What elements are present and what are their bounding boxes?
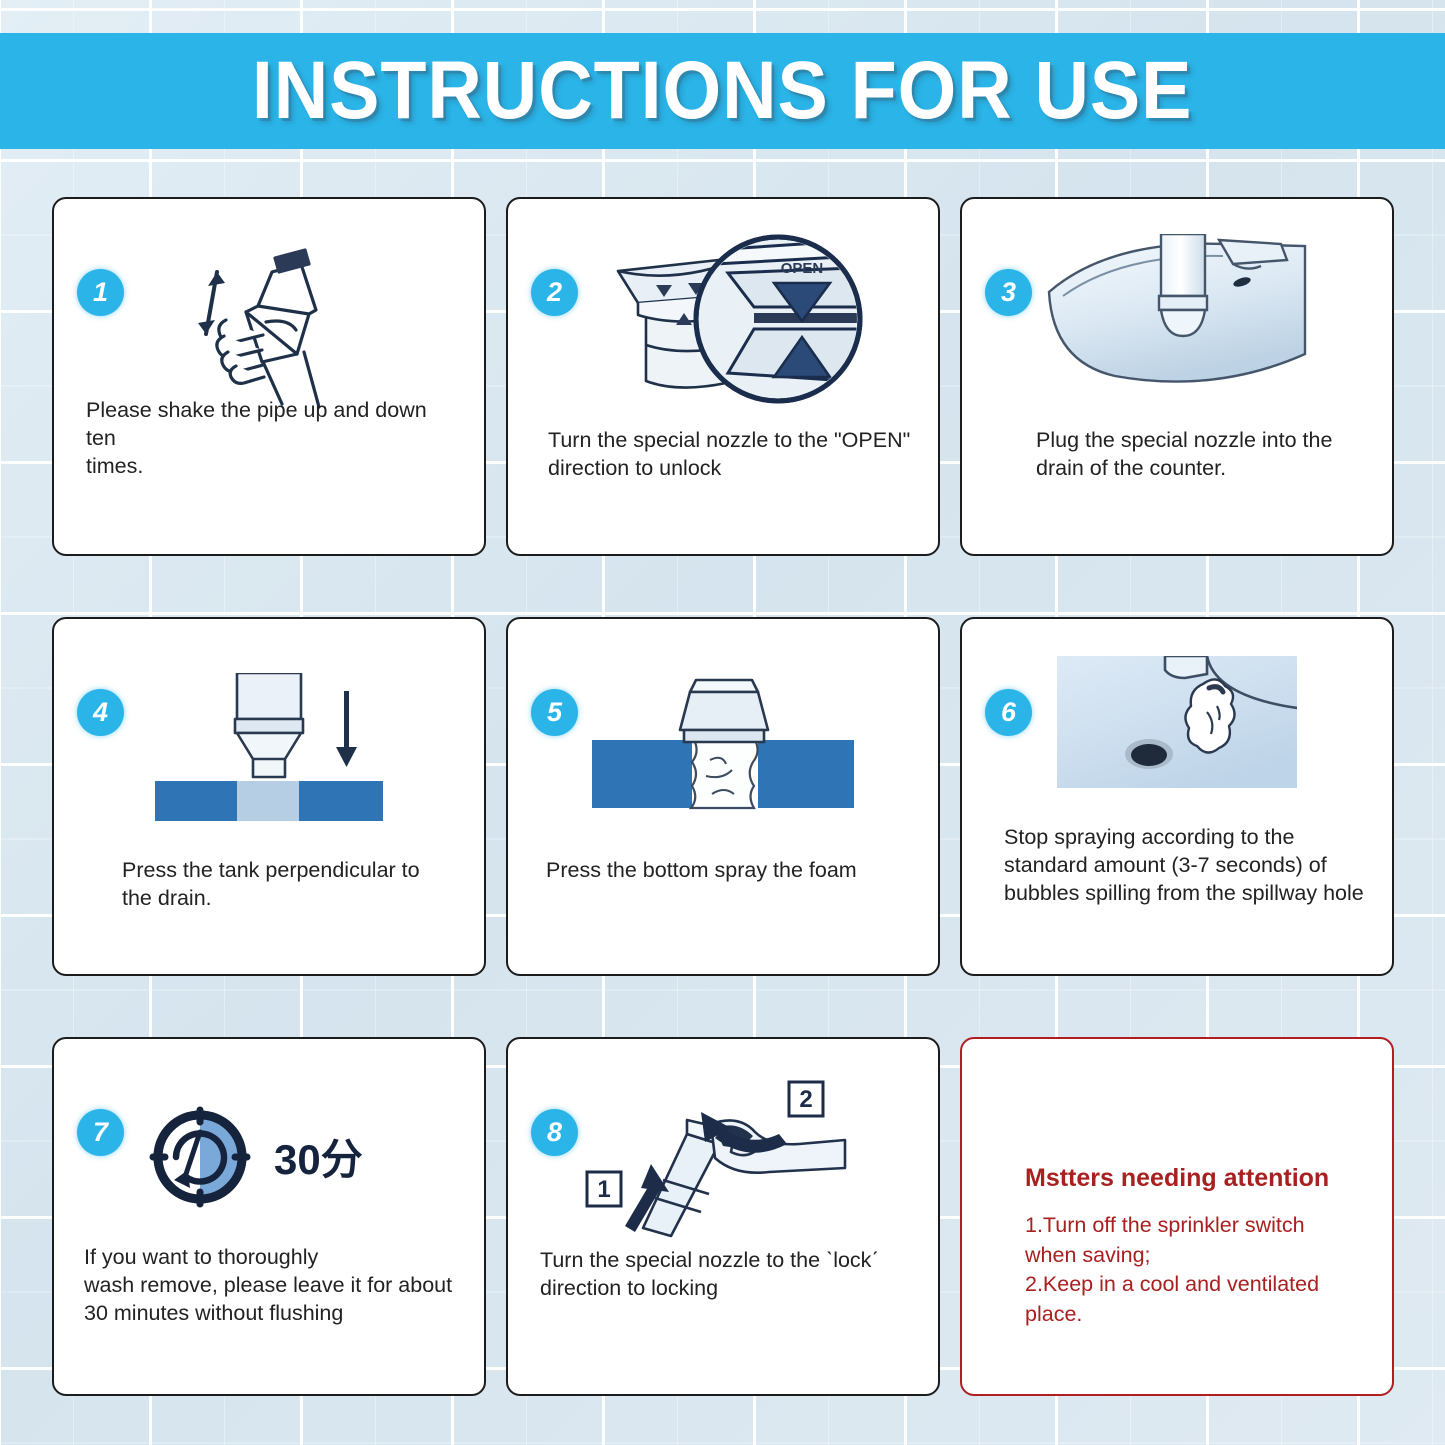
foam-spray-drain-icon xyxy=(508,661,938,836)
timer-label: 30分 xyxy=(274,1136,363,1183)
step-caption-7: If you want to thoroughly wash remove, p… xyxy=(54,1244,484,1328)
step-card-4: 4 Press the tank xyxy=(52,617,486,976)
warning-card: Mstters needing attention 1.Turn off the… xyxy=(960,1037,1394,1396)
svg-text:2: 2 xyxy=(799,1086,812,1113)
timer-30-minutes-icon: 30分 xyxy=(54,1097,484,1217)
step-caption-3: Plug the special nozzle into the drain o… xyxy=(962,427,1392,483)
press-tank-down-icon xyxy=(54,661,484,836)
step-card-6: 6 S xyxy=(960,617,1394,976)
step-caption-4: Press the tank perpendicular to the drai… xyxy=(54,857,484,913)
step-caption-5: Press the bottom spray the foam xyxy=(508,857,938,885)
step-card-3: 3 xyxy=(960,197,1394,556)
step-card-1: 1 xyxy=(52,197,486,556)
step-card-5: 5 Press the bottom spray the foam xyxy=(506,617,940,976)
instruction-step-grid: 1 xyxy=(52,197,1393,1396)
header-banner: INSTRUCTIONS FOR USE xyxy=(0,33,1445,149)
step-caption-2: Turn the special nozzle to the "OPEN" di… xyxy=(508,427,938,483)
svg-text:1: 1 xyxy=(597,1176,610,1203)
hand-lock-nozzle-icon: 1 2 xyxy=(508,1073,938,1243)
warning-title: Mstters needing attention xyxy=(1025,1164,1329,1193)
nozzle-in-drain-icon xyxy=(962,229,1392,404)
svg-text:OPEN: OPEN xyxy=(781,260,824,277)
step-card-7: 7 30分 If you xyxy=(52,1037,486,1396)
step-caption-1: Please shake the pipe up and down ten ti… xyxy=(54,397,484,481)
nozzle-open-dial-icon: OPEN xyxy=(508,231,938,406)
step-card-8: 8 xyxy=(506,1037,940,1396)
page-title: INSTRUCTIONS FOR USE xyxy=(252,44,1192,138)
sink-overflow-foam-icon xyxy=(962,647,1392,797)
step-card-2: 2 xyxy=(506,197,940,556)
step-caption-6: Stop spraying according to the standard … xyxy=(962,824,1392,908)
step-caption-8: Turn the special nozzle to the ˋlockˊ di… xyxy=(508,1247,938,1303)
warning-body: 1.Turn off the sprinkler switch when sav… xyxy=(1025,1211,1370,1330)
